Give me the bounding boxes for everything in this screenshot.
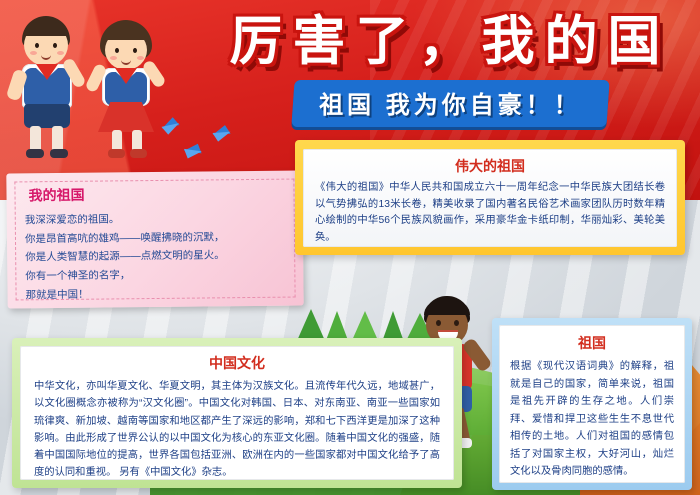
boy-eye-left bbox=[35, 43, 39, 48]
boy-shorts bbox=[24, 104, 70, 128]
poster-subtitle: 祖国 我为你自豪！！ bbox=[319, 85, 582, 120]
running-boy-eye-right bbox=[454, 320, 459, 326]
girl-red-scarf bbox=[115, 68, 137, 84]
girl-fringe bbox=[103, 27, 149, 40]
girl-eye-left bbox=[115, 48, 119, 53]
boy-fringe bbox=[23, 22, 69, 36]
panel-my-country-border bbox=[14, 179, 295, 301]
panel-great-motherland-sheet: 伟大的祖国 《伟大的祖国》中华人民共和国成立六十一周年纪念一中华民族大团结长卷以… bbox=[303, 149, 677, 247]
panel-zuguo-sheet: 祖国 根据《现代汉语词典》的解释，祖就是自己的国家，简单来说，祖国是祖先开辟的生… bbox=[499, 325, 685, 483]
panel-zuguo-heading: 祖国 bbox=[499, 333, 685, 353]
boy-shoe-right bbox=[50, 149, 68, 158]
panel-chinese-culture[interactable]: 中国文化 中华文化，亦叫华夏文化、华夏文明，其主体为汉族文化。且流传年代久远，地… bbox=[12, 338, 462, 488]
girl-cheek-left bbox=[110, 56, 117, 60]
poster-title: 厉害了，我的国 bbox=[215, 14, 685, 70]
boy-cheek-left bbox=[30, 51, 37, 55]
girl-skirt bbox=[98, 102, 154, 132]
girl-shoe-right bbox=[130, 149, 147, 158]
panel-zuguo-text: 根据《现代汉语词典》的解释，祖就是自己的国家，简单来说，祖国是祖先开辟的生存之地… bbox=[499, 358, 685, 481]
panel-great-motherland[interactable]: 伟大的祖国 《伟大的祖国》中华人民共和国成立六十一周年纪念一中华民族大团结长卷以… bbox=[295, 140, 685, 255]
boy-red-scarf bbox=[36, 64, 58, 80]
poster-canvas: 厉害了，我的国 祖国 我为你自豪！！ bbox=[0, 0, 700, 495]
panel-chinese-culture-heading: 中国文化 bbox=[20, 353, 454, 373]
poster-title-block: 厉害了，我的国 祖国 我为你自豪！！ bbox=[215, 14, 685, 127]
boy-eye-right bbox=[53, 43, 57, 48]
running-boy-eye-left bbox=[436, 320, 441, 326]
panel-great-motherland-heading: 伟大的祖国 bbox=[303, 156, 677, 176]
girl-shoe-left bbox=[108, 149, 125, 158]
panel-great-motherland-text: 《伟大的祖国》中华人民共和国成立六十一周年纪念一中华民族大团结长卷以气势拂弘的1… bbox=[303, 180, 677, 247]
girl-cheek-right bbox=[137, 56, 144, 60]
cartoon-girl bbox=[88, 18, 174, 164]
panel-chinese-culture-sheet: 中国文化 中华文化，亦叫华夏文化、华夏文明，其主体为汉族文化。且流传年代久远，地… bbox=[20, 346, 454, 480]
panel-my-country[interactable]: 我的祖国 我深深爱恋的祖国。 你是昂首高吭的雄鸡——唤醒拂晓的沉默， 你是人类智… bbox=[6, 170, 303, 308]
panel-chinese-culture-text: 中华文化，亦叫华夏文化、华夏文明，其主体为汉族文化。且流传年代久远，地域甚广，以… bbox=[20, 378, 454, 482]
poster-subtitle-banner: 祖国 我为你自豪！！ bbox=[291, 80, 609, 127]
girl-eye-right bbox=[133, 48, 137, 53]
boy-cheek-right bbox=[57, 51, 64, 55]
cartoon-boy bbox=[8, 12, 88, 162]
running-boy-fringe bbox=[424, 301, 470, 315]
panel-zuguo[interactable]: 祖国 根据《现代汉语词典》的解释，祖就是自己的国家，简单来说，祖国是祖先开辟的生… bbox=[492, 318, 692, 490]
boy-shoe-left bbox=[26, 149, 44, 158]
